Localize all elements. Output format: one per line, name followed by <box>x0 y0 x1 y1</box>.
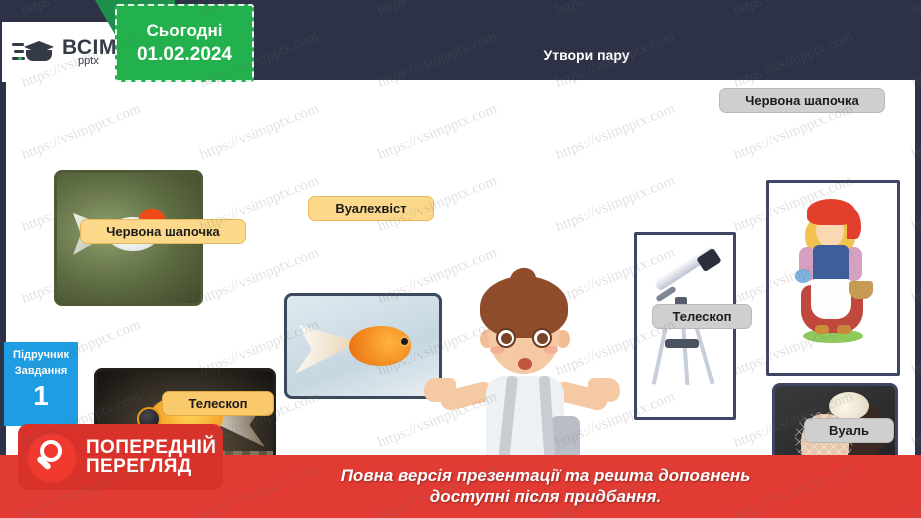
cheek-left <box>490 346 504 354</box>
sidebar-tab-textbook-task[interactable]: Підручник Завдання 1 <box>4 342 78 426</box>
card-red-riding-hood[interactable] <box>766 180 900 376</box>
banner-line2: доступні після придбання. <box>170 487 921 507</box>
sidebar-tab-line2: Завдання <box>15 364 68 380</box>
sidebar-tab-line1: Підручник <box>13 348 69 364</box>
tripod-tray <box>665 339 699 348</box>
label-red-riding-hood[interactable]: Червона шапочка <box>719 88 885 113</box>
label-fish-telescope[interactable]: Телескоп <box>162 391 274 416</box>
hand-left <box>424 378 456 402</box>
basket-icon <box>849 281 873 299</box>
pupil-left <box>501 333 512 344</box>
apron <box>811 279 851 319</box>
banner-line1: Повна версія презентації та решта доповн… <box>170 466 921 486</box>
preview-label-line1: ПОПЕРЕДНІЙ <box>86 438 216 457</box>
slide-title-bar: Утвори пару <box>258 36 915 74</box>
feather-fascinator <box>829 392 869 420</box>
preview-badge[interactable]: ПОПЕРЕДНІЙ ПЕРЕГЛЯД <box>18 424 223 490</box>
today-date-badge: Сьогодні 01.02.2024 <box>115 4 254 82</box>
pupil-right <box>537 333 548 344</box>
hand-right <box>588 378 620 402</box>
label-fish-red-cap[interactable]: Червона шапочка <box>80 219 246 244</box>
shoe-right <box>837 325 851 334</box>
cheek-right <box>544 346 558 354</box>
card-fish-veiltail[interactable] <box>284 293 442 399</box>
date-value: 01.02.2024 <box>137 44 232 66</box>
graduation-cap-icon <box>12 37 58 67</box>
label-fish-veiltail[interactable]: Вуалехвіст <box>308 196 434 221</box>
label-veil[interactable]: Вуаль <box>804 418 894 443</box>
preview-label-line2: ПЕРЕГЛЯД <box>86 457 216 476</box>
red-hood <box>807 199 855 225</box>
magnifier-icon <box>26 431 78 483</box>
flowers-icon <box>795 269 811 283</box>
sidebar-tab-number: 1 <box>33 382 49 410</box>
slide-stage: ВСІМ pptx Сьогодні 01.02.2024 Утвори пар… <box>0 0 921 518</box>
shoe-left <box>815 325 829 334</box>
date-label: Сьогодні <box>147 21 223 41</box>
label-telescope[interactable]: Телескоп <box>652 304 752 329</box>
page-title: Утвори пару <box>544 47 630 63</box>
mouth <box>518 358 532 370</box>
fish-eye <box>399 336 410 347</box>
